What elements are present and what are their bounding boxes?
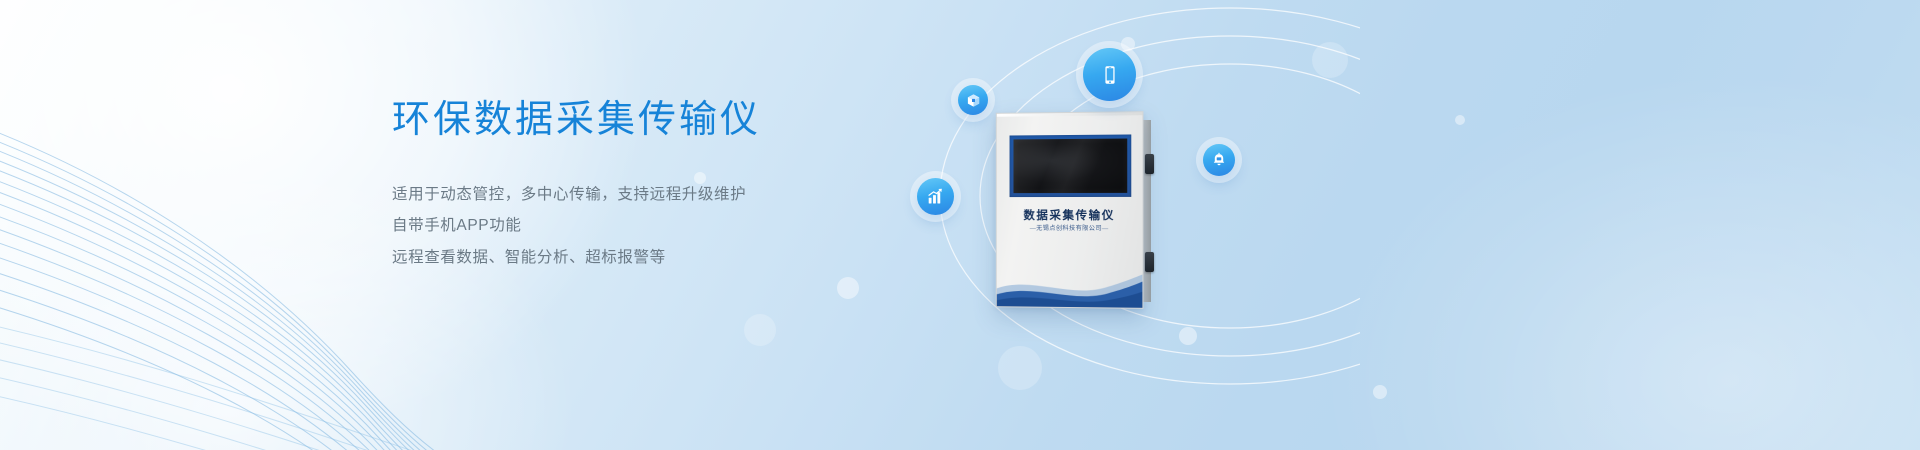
alarm-bell-icon[interactable] <box>1203 144 1235 176</box>
device-label-company: —无锡点创科技有限公司— <box>997 223 1143 232</box>
device-latch-top <box>1145 154 1154 174</box>
device-screen-bezel <box>1010 134 1132 197</box>
device-label-title: 数据采集传输仪 <box>997 207 1143 223</box>
product-banner: 环保数据采集传输仪 适用于动态管控，多中心传输，支持远程升级维护 自带手机APP… <box>0 0 1920 450</box>
device-top-edge <box>997 112 1143 117</box>
smartphone-icon[interactable] <box>1083 48 1136 101</box>
device-latch-bottom <box>1145 252 1154 272</box>
product-device-image: 数据采集传输仪 —无锡点创科技有限公司— <box>995 112 1175 312</box>
glow-bottom-right <box>1320 70 1920 450</box>
subtitle-line-1: 适用于动态管控，多中心传输，支持远程升级维护 <box>392 179 912 211</box>
subtitle-line-2: 自带手机APP功能 <box>392 210 912 242</box>
subtitle-list: 适用于动态管控，多中心传输，支持远程升级维护 自带手机APP功能 远程查看数据、… <box>392 179 912 274</box>
device-cabinet: 数据采集传输仪 —无锡点创科技有限公司— <box>996 111 1144 309</box>
bar-chart-icon[interactable] <box>917 178 954 215</box>
banner-copy: 环保数据采集传输仪 适用于动态管控，多中心传输，支持远程升级维护 自带手机APP… <box>392 96 912 274</box>
decorative-bubbles <box>0 0 1920 450</box>
device-screen <box>1013 139 1127 194</box>
device-wave-graphic <box>997 267 1143 308</box>
cube-icon[interactable] <box>958 85 988 115</box>
subtitle-line-3: 远程查看数据、智能分析、超标报警等 <box>392 242 912 274</box>
page-title: 环保数据采集传输仪 <box>392 96 912 145</box>
